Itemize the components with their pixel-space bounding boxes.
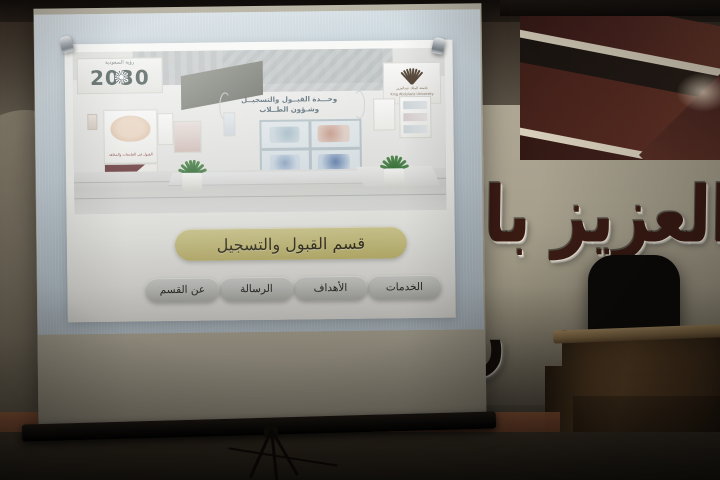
screenshot-root: عبدالعزيز بالأ را رؤية السعودية 2030 xyxy=(0,0,720,480)
signage-arch-right xyxy=(353,91,365,119)
wall-poster-narrow-2 xyxy=(223,112,235,136)
wall-switch xyxy=(87,114,97,130)
university-logo-line-1: جامعة الملك عبدالعزيز xyxy=(386,86,438,91)
slide-nav-buttons: عن القسمالرسالةالأهدافالخدمات xyxy=(145,274,437,304)
wall-poster-main: القبول في الجامعات والمعاهد xyxy=(103,109,158,164)
nav-button-about-label: عن القسم xyxy=(160,284,206,297)
wall-poster-title: القبول في الجامعات والمعاهد xyxy=(108,152,154,158)
slide-title-banner: قسم القبول والتسجيل xyxy=(175,226,407,261)
wall-poster-narrow-1 xyxy=(157,113,173,145)
nav-button-about[interactable]: عن القسم xyxy=(145,277,219,302)
tripod-stand xyxy=(210,430,400,480)
wall-poster-narrow-3 xyxy=(373,98,395,130)
vision-2030-rosette-icon xyxy=(115,71,128,84)
vision-2030-logo: رؤية السعودية 2030 xyxy=(77,57,163,94)
wall-chevron-decoration xyxy=(520,0,720,160)
nav-button-mission-label: الرسالة xyxy=(240,283,273,295)
hall-signage-line-2: وشـؤون الطــلاب xyxy=(225,104,353,115)
hall-signage-line-1: وحـــدة القبــول والتسجيــل xyxy=(225,95,353,106)
slide-title-text: قسم القبول والتسجيل xyxy=(217,233,366,254)
presentation-slide: رؤية السعودية 2030 جامعة الملك عبدالعزيز… xyxy=(34,9,484,334)
slide-photo: رؤية السعودية 2030 جامعة الملك عبدالعزيز… xyxy=(73,48,447,215)
ceiling-trim xyxy=(500,0,720,16)
wall-poster-grid xyxy=(399,96,432,138)
nav-button-services[interactable]: الخدمات xyxy=(367,275,441,300)
nav-button-goals[interactable]: الأهداف xyxy=(293,276,367,301)
nav-button-mission[interactable]: الرسالة xyxy=(219,277,293,302)
paper-stud-left-icon xyxy=(59,35,75,54)
nav-button-services-label: الخدمات xyxy=(386,281,423,293)
nav-button-goals-label: الأهداف xyxy=(313,282,347,294)
hall-signage: وحـــدة القبــول والتسجيــل وشـؤون الطــ… xyxy=(225,95,353,119)
university-fan-icon xyxy=(392,66,432,84)
slide-paper-panel: رؤية السعودية 2030 جامعة الملك عبدالعزيز… xyxy=(64,40,455,323)
